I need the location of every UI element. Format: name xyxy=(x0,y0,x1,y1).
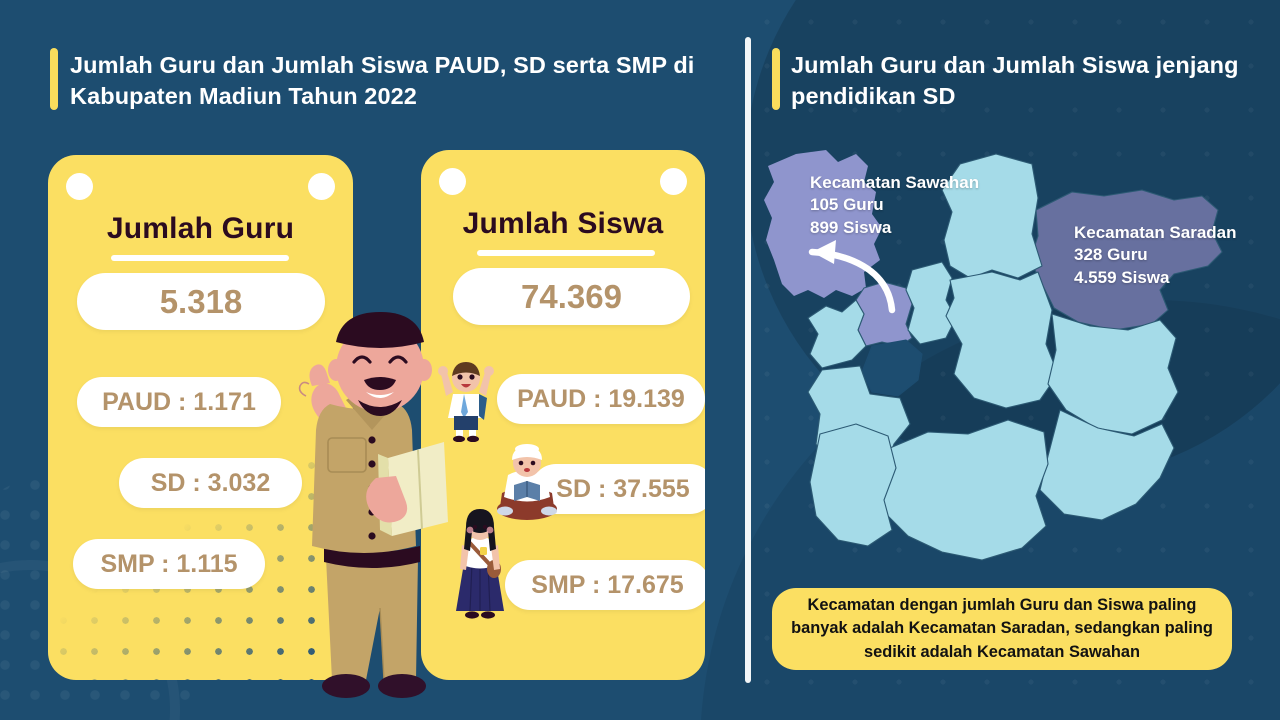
map-label-sawahan-guru: 105 Guru xyxy=(810,194,979,216)
map-region-base-northwest xyxy=(906,262,956,344)
punch-hole-right xyxy=(308,173,335,200)
girl-student-illustration xyxy=(450,505,510,621)
page-title-left: Jumlah Guru dan Jumlah Siswa PAUD, SD se… xyxy=(70,50,730,113)
punch-hole-left xyxy=(439,168,466,195)
card-title-siswa: Jumlah Siswa xyxy=(421,207,705,241)
card-title-guru: Jumlah Guru xyxy=(48,212,353,246)
map-label-sawahan-name: Kecamatan Sawahan xyxy=(810,172,979,194)
punch-hole-right xyxy=(660,168,687,195)
row-smp-siswa: SMP : 17.675 xyxy=(505,560,705,610)
map-label-sawahan: Kecamatan Sawahan 105 Guru 899 Siswa xyxy=(810,172,979,239)
card-title-underline xyxy=(477,250,655,256)
boy-student-illustration xyxy=(435,356,497,442)
map-region-base-south xyxy=(878,420,1048,560)
map-caption-box: Kecamatan dengan jumlah Guru dan Siswa p… xyxy=(772,588,1232,670)
map-label-saradan-guru: 328 Guru xyxy=(1074,244,1237,266)
card-title-underline xyxy=(111,255,289,261)
map-caption-text: Kecamatan dengan jumlah Guru dan Siswa p… xyxy=(786,594,1218,664)
map-region-base-central xyxy=(946,272,1058,408)
row-paud-guru: PAUD : 1.171 xyxy=(77,377,281,427)
map-region-base-dark-notch xyxy=(862,340,922,396)
row-smp-guru: SMP : 1.115 xyxy=(73,539,265,589)
vertical-divider xyxy=(745,37,751,683)
punch-hole-left xyxy=(66,173,93,200)
row-paud-siswa: PAUD : 19.139 xyxy=(497,374,705,424)
map-label-saradan-siswa: 4.559 Siswa xyxy=(1074,267,1237,289)
map-label-saradan: Kecamatan Saradan 328 Guru 4.559 Siswa xyxy=(1074,222,1237,289)
map-label-saradan-name: Kecamatan Saradan xyxy=(1074,222,1237,244)
title-accent-bar-right xyxy=(772,48,780,110)
map-label-sawahan-siswa: 899 Siswa xyxy=(810,217,979,239)
map-region-base-west xyxy=(808,300,866,368)
total-siswa-pill: 74.369 xyxy=(453,268,690,325)
map-region-base-southwest-lobe xyxy=(810,424,896,546)
title-accent-bar-left xyxy=(50,48,58,110)
page-title-right: Jumlah Guru dan Jumlah Siswa jenjang pen… xyxy=(791,50,1251,113)
